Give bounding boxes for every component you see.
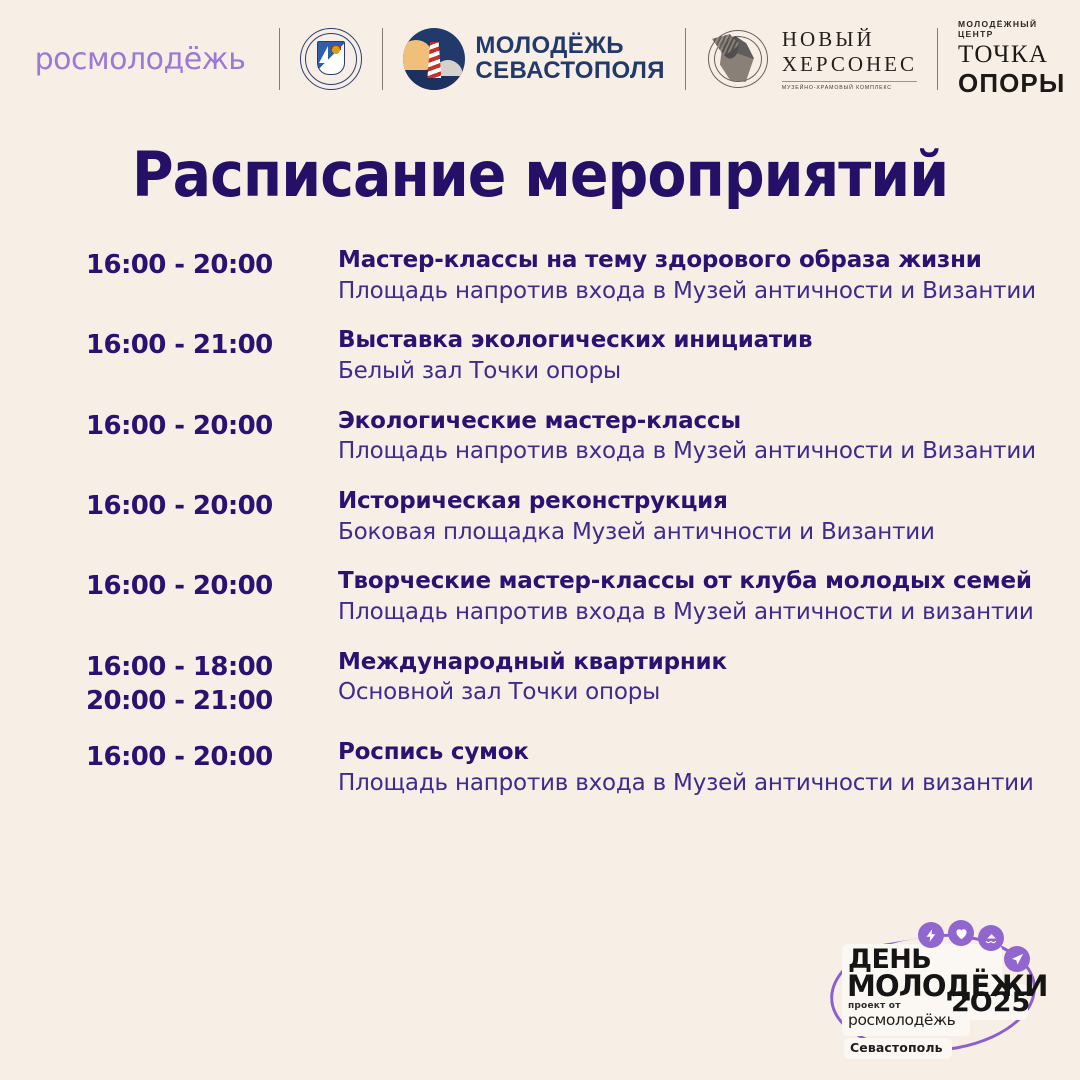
ms-line-1: МОЛОДЁЖЬ bbox=[475, 34, 665, 59]
schedule-info: Мастер-классы на тему здорового образа ж… bbox=[338, 246, 1046, 306]
badge-city: Севастополь bbox=[850, 1040, 943, 1055]
event-venue: Площадь напротив входа в Музей античност… bbox=[338, 276, 1046, 307]
logo-molodezh-sevastopolya: МОЛОДЁЖЬ СЕВАСТОПОЛЯ bbox=[403, 28, 665, 90]
event-venue: Боковая площадка Музей античности и Виза… bbox=[338, 517, 1046, 548]
to-line-0: МОЛОДЁЖНЫЙ ЦЕНТР bbox=[958, 19, 1065, 39]
lightning-icon bbox=[918, 922, 944, 948]
schedule-row: 16:00 - 20:00Экологические мастер-классы… bbox=[86, 407, 1046, 467]
schedule-times: 16:00 - 18:0020:00 - 21:00 bbox=[86, 648, 338, 719]
schedule-info: Творческие мастер-классы от клуба молоды… bbox=[338, 567, 1046, 627]
to-line-2: ОПОРЫ bbox=[958, 68, 1065, 99]
schedule-row: 16:00 - 21:00Выставка экологических иниц… bbox=[86, 326, 1046, 386]
tochka-opory-wordmark: МОЛОДЁЖНЫЙ ЦЕНТР ТОЧКА ОПОРЫ bbox=[958, 19, 1080, 99]
event-time: 16:00 - 18:00 bbox=[86, 650, 338, 684]
logo-divider-1 bbox=[279, 28, 280, 90]
event-title: Международный квартирник bbox=[338, 648, 1046, 677]
event-title: Историческая реконструкция bbox=[338, 487, 1046, 516]
sevastopol-seal-icon bbox=[300, 28, 362, 90]
ms-line-2: СЕВАСТОПОЛЯ bbox=[475, 59, 665, 84]
logo-tochka-opory: МОЛОДЁЖНЫЙ ЦЕНТР ТОЧКА ОПОРЫ bbox=[958, 19, 1080, 99]
schedule-row: 16:00 - 20:00Историческая реконструкцияБ… bbox=[86, 487, 1046, 547]
schedule-row: 16:00 - 18:0020:00 - 21:00Международный … bbox=[86, 648, 1046, 719]
event-title: Творческие мастер-классы от клуба молоды… bbox=[338, 567, 1046, 596]
schedule-row: 16:00 - 20:00Мастер-классы на тему здоро… bbox=[86, 246, 1046, 306]
event-venue: Основной зал Точки опоры bbox=[338, 677, 1046, 708]
badge-project-brand: росмолодёжь bbox=[848, 1011, 955, 1029]
wave-icon bbox=[978, 925, 1004, 951]
logo-divider-4 bbox=[937, 28, 938, 90]
griffin-icon bbox=[706, 28, 770, 90]
schedule-times: 16:00 - 20:00 bbox=[86, 407, 338, 443]
badge-year: 2О25 bbox=[951, 987, 1030, 1018]
badge-project-by: проект от bbox=[848, 1001, 901, 1011]
heart-icon bbox=[948, 920, 974, 946]
schedule-times: 16:00 - 20:00 bbox=[86, 246, 338, 282]
logo-divider-3 bbox=[685, 28, 686, 90]
logo-novy-khersones: НОВЫЙ ХЕРСОНЕС МУЗЕЙНО-ХРАМОВЫЙ КОМПЛЕКС bbox=[706, 27, 917, 91]
schedule-list: 16:00 - 20:00Мастер-классы на тему здоро… bbox=[86, 246, 1046, 819]
schedule-times: 16:00 - 20:00 bbox=[86, 738, 338, 774]
schedule-info: Международный квартирникОсновной зал Точ… bbox=[338, 648, 1046, 708]
schedule-times: 16:00 - 20:00 bbox=[86, 487, 338, 523]
molodezh-sevastopolya-wordmark: МОЛОДЁЖЬ СЕВАСТОПОЛЯ bbox=[475, 34, 665, 84]
schedule-row: 16:00 - 20:00Роспись сумокПлощадь напрот… bbox=[86, 738, 1046, 798]
schedule-info: Экологические мастер-классыПлощадь напро… bbox=[338, 407, 1046, 467]
novy-khersones-wordmark: НОВЫЙ ХЕРСОНЕС МУЗЕЙНО-ХРАМОВЫЙ КОМПЛЕКС bbox=[782, 27, 917, 91]
schedule-info: Роспись сумокПлощадь напротив входа в Му… bbox=[338, 738, 1046, 798]
event-time: 16:00 - 20:00 bbox=[86, 409, 338, 443]
event-title: Выставка экологических инициатив bbox=[338, 326, 1046, 355]
logo-divider-2 bbox=[382, 28, 383, 90]
event-time: 16:00 - 20:00 bbox=[86, 740, 338, 774]
event-venue: Площадь напротив входа в Музей античност… bbox=[338, 436, 1046, 467]
schedule-times: 16:00 - 21:00 bbox=[86, 326, 338, 362]
event-time: 20:00 - 21:00 bbox=[86, 684, 338, 718]
header-logo-bar: росмолодёжь МОЛОДЁЖЬ СЕВАСТОПОЛЯ НОВЫЙ bbox=[0, 0, 1080, 118]
lighthouse-icon bbox=[403, 28, 465, 90]
logo-rosmolodezh: росмолодёжь bbox=[0, 42, 259, 77]
event-title: Экологические мастер-классы bbox=[338, 407, 1046, 436]
event-time: 16:00 - 20:00 bbox=[86, 248, 338, 282]
schedule-info: Выставка экологических инициативБелый за… bbox=[338, 326, 1046, 386]
event-time: 16:00 - 20:00 bbox=[86, 569, 338, 603]
logo-sevastopol-seal bbox=[300, 28, 362, 90]
nh-line-1: НОВЫЙ bbox=[782, 27, 917, 52]
page-title: Расписание мероприятий bbox=[0, 139, 1080, 212]
event-venue: Белый зал Точки опоры bbox=[338, 356, 1046, 387]
event-time: 16:00 - 20:00 bbox=[86, 489, 338, 523]
nh-line-2: ХЕРСОНЕС bbox=[782, 52, 917, 77]
nh-line-3: МУЗЕЙНО-ХРАМОВЫЙ КОМПЛЕКС bbox=[782, 81, 917, 91]
event-time: 16:00 - 21:00 bbox=[86, 328, 338, 362]
event-title: Роспись сумок bbox=[338, 738, 1046, 767]
event-venue: Площадь напротив входа в Музей античност… bbox=[338, 768, 1046, 799]
day-of-youth-badge: ДЕНЬ МОЛОДЁЖИ 2О25 проект от росмолодёжь… bbox=[822, 908, 1066, 1074]
event-title: Мастер-классы на тему здорового образа ж… bbox=[338, 246, 1046, 275]
schedule-row: 16:00 - 20:00Творческие мастер-классы от… bbox=[86, 567, 1046, 627]
rosmolodezh-wordmark: росмолодёжь bbox=[0, 42, 259, 77]
schedule-times: 16:00 - 20:00 bbox=[86, 567, 338, 603]
to-line-1: ТОЧКА bbox=[958, 41, 1065, 69]
rocket-icon bbox=[1004, 946, 1030, 972]
event-venue: Площадь напротив входа в Музей античност… bbox=[338, 597, 1046, 628]
schedule-info: Историческая реконструкцияБоковая площад… bbox=[338, 487, 1046, 547]
